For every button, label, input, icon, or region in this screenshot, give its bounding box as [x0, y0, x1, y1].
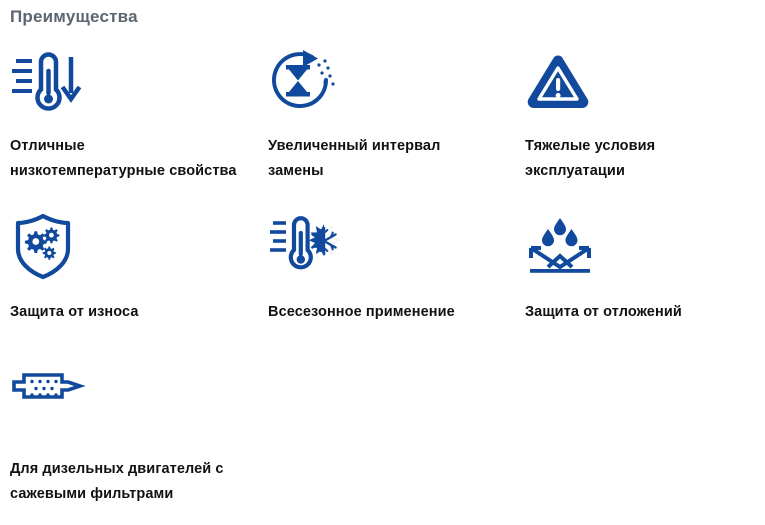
benefit-item-dpf: Для дизельных двигателей с сажевыми филь… — [0, 347, 255, 507]
benefit-label: Увеличенный интервал замены — [268, 134, 496, 184]
thermometer-sun-snowflake-icon — [268, 204, 502, 282]
hourglass-refresh-icon — [268, 40, 502, 118]
benefit-item-low-temperature: Отличные низкотемпературные свойства — [0, 40, 255, 184]
benefit-item-wear-protection: Защита от износа — [0, 204, 255, 325]
page-title: Преимущества — [10, 6, 138, 28]
benefit-item-severe-conditions: Тяжелые условия эксплуатации — [510, 40, 765, 184]
benefit-item-drain-interval: Увеличенный интервал замены — [255, 40, 510, 184]
benefit-label: Для дизельных двигателей с сажевыми филь… — [10, 457, 247, 507]
benefit-item-all-season: Всесезонное применение — [255, 204, 510, 325]
benefits-row: Защита от износа — [0, 204, 765, 325]
benefit-label: Тяжелые условия эксплуатации — [525, 134, 753, 184]
benefit-label: Защита от отложений — [525, 300, 753, 325]
benefits-section: Преимущества — [0, 0, 765, 525]
warning-triangle-icon — [525, 40, 757, 118]
benefits-grid: Отличные низкотемпературные свойства — [0, 40, 765, 507]
benefit-item-deposit-protection: Защита от отложений — [510, 204, 765, 325]
shield-gears-icon — [10, 204, 247, 282]
benefits-row: Отличные низкотемпературные свойства — [0, 40, 765, 184]
diesel-particulate-filter-icon — [10, 347, 247, 425]
benefit-label: Отличные низкотемпературные свойства — [10, 134, 238, 184]
thermometer-down-arrow-icon — [10, 40, 247, 118]
benefit-label: Защита от износа — [10, 300, 238, 325]
benefit-label: Всесезонное применение — [268, 300, 496, 325]
droplets-repel-surface-icon — [525, 204, 757, 282]
benefits-row: Для дизельных двигателей с сажевыми филь… — [0, 347, 765, 507]
